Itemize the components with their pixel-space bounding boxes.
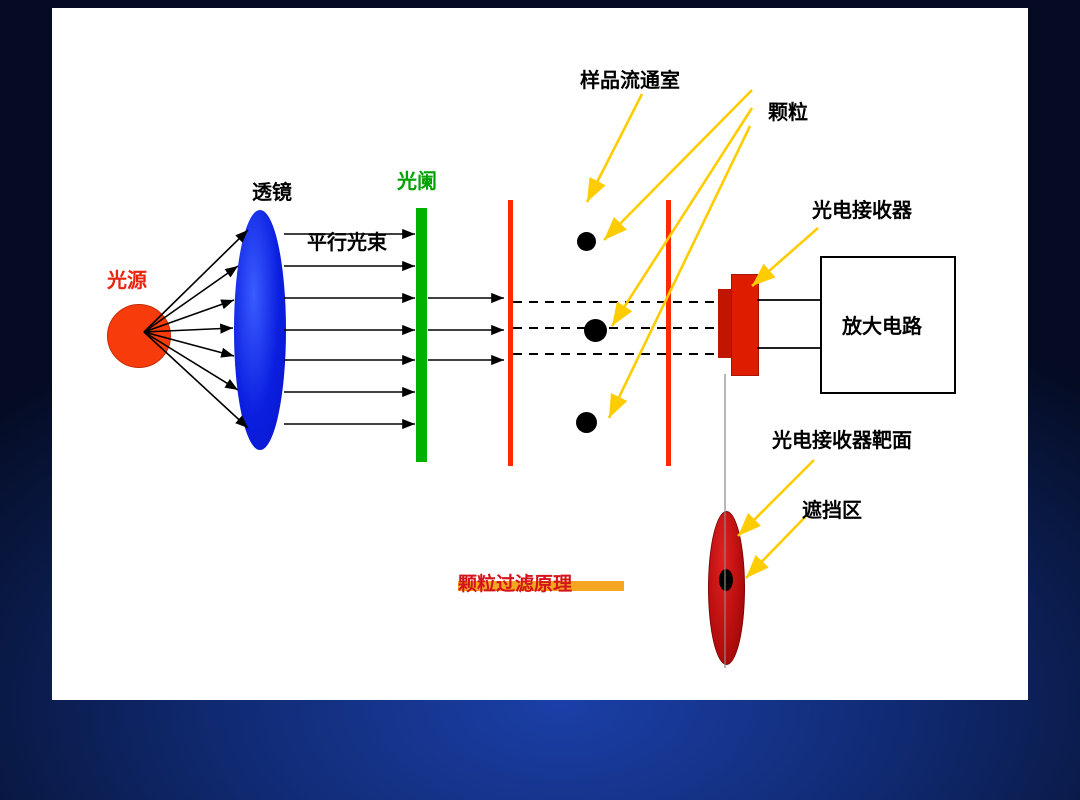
diagram-title: 颗粒过滤原理 — [458, 569, 572, 596]
label-sample-flow-cell: 样品流通室 — [580, 64, 680, 93]
label-lens: 透镜 — [252, 176, 292, 205]
slide-frame: 光源 透镜 平行光束 光阑 样品流通室 颗粒 光电接收器 放大电路 光电接收器靶… — [0, 0, 1080, 800]
diagram-overlay — [52, 8, 1028, 700]
label-photo-receiver: 光电接收器 — [812, 194, 912, 223]
label-particles: 颗粒 — [768, 96, 808, 125]
label-photo-receiver-target: 光电接收器靶面 — [772, 424, 912, 453]
label-light-source: 光源 — [107, 264, 147, 293]
optical-diagram: 光源 透镜 平行光束 光阑 样品流通室 颗粒 光电接收器 放大电路 光电接收器靶… — [52, 8, 1028, 700]
label-parallel-beam: 平行光束 — [307, 226, 387, 255]
label-aperture: 光阑 — [397, 165, 437, 194]
label-amplifier-circuit: 放大电路 — [842, 310, 922, 339]
label-blocking-zone: 遮挡区 — [802, 494, 862, 523]
slide-canvas: 光源 透镜 平行光束 光阑 样品流通室 颗粒 光电接收器 放大电路 光电接收器靶… — [52, 8, 1028, 700]
